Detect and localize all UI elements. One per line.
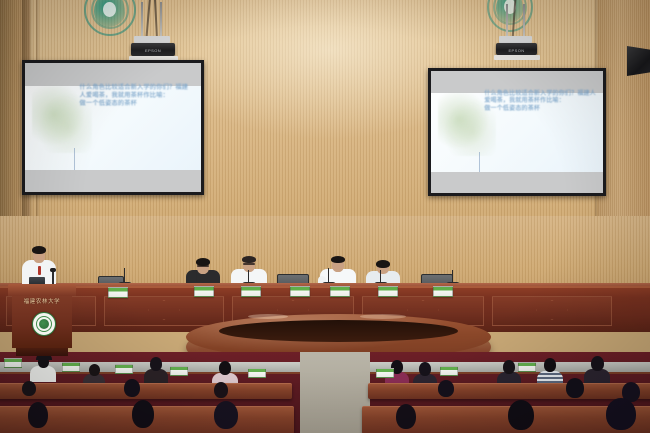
audience-member: [24, 402, 58, 433]
audience-head: [214, 401, 238, 429]
oval-table-highlight: [248, 314, 288, 319]
audience-member: [604, 398, 648, 433]
podium-front: 福建农林大学: [12, 296, 72, 348]
audience-member: [392, 404, 426, 433]
projector-mount: [134, 36, 170, 43]
seat-nameplate: [376, 368, 394, 378]
projector-rod: [141, 2, 143, 38]
audience-head: [419, 362, 431, 376]
seat-nameplate: [62, 362, 80, 372]
oval-table-center-opening: [219, 320, 458, 342]
projector-brand-label: EPSON: [131, 48, 175, 53]
audience-member: [128, 400, 164, 433]
mic-stem: [124, 268, 125, 282]
audience-torso: [30, 366, 56, 382]
crest-core: [39, 319, 49, 329]
projector-rod: [160, 2, 162, 38]
audience-head: [22, 381, 36, 396]
eyeglasses-icon: [197, 265, 209, 267]
audience-head: [606, 398, 636, 430]
seat-nameplate: [170, 366, 188, 376]
projection-screen-left: 什么角色比较适合新入学的你们？福建人爱喝茶，我就用茶杯作比喻： 做一个低姿态的茶…: [22, 60, 204, 195]
audience-member: [560, 378, 592, 408]
nameplate: [433, 286, 453, 297]
panelist-hair: [331, 256, 345, 263]
panelist-hair: [376, 260, 390, 268]
podium-mic-head: [50, 268, 56, 272]
podium-base: [16, 348, 68, 356]
mic-stem: [328, 268, 329, 282]
panelist-hair: [242, 256, 256, 263]
seat-nameplate: [248, 368, 266, 378]
projection-screen-right: 什么角色比较适合新入学的你们？福建人爱喝茶，我就用茶杯作比喻： 做一个低姿态的茶…: [428, 68, 606, 196]
audience-head: [396, 404, 416, 429]
audience-head: [544, 358, 556, 372]
audience-head: [150, 357, 162, 371]
audience-member: [432, 380, 462, 408]
seat-nameplate: [115, 364, 133, 374]
audience-head: [89, 364, 100, 376]
audience-head: [503, 360, 515, 374]
nameplate: [378, 286, 398, 297]
podium-crest-icon: [32, 312, 56, 336]
nameplate: [241, 286, 261, 297]
audience-member: [210, 401, 248, 433]
audience-bench-row-2-right: [368, 383, 650, 399]
podium-top: [8, 284, 76, 296]
projector-rod: [506, 4, 508, 36]
conference-hall-photo: EPSON EPSON 什么角色比较适合新入学的你们？福建人爱喝茶，我就用茶杯作…: [0, 0, 650, 433]
seat-nameplate: [440, 366, 458, 376]
projector-ceiling-plate: [494, 55, 540, 60]
audience-head: [124, 379, 140, 397]
seat-nameplate: [518, 362, 536, 372]
seat-nameplate: [4, 358, 22, 368]
audience-head: [566, 378, 584, 398]
wall-speaker-icon: [627, 46, 650, 76]
projector-mount: [499, 36, 532, 43]
eyeglasses-icon: [243, 263, 255, 265]
screen-bottom-band: [431, 172, 603, 193]
audience-head: [219, 361, 231, 375]
screen-surface: 什么角色比较适合新入学的你们？福建人爱喝茶，我就用茶杯作比喻： 做一个低姿态的茶…: [25, 63, 201, 192]
audience-head: [508, 400, 534, 430]
mic-stem: [452, 270, 453, 282]
projector-brand-label: EPSON: [496, 48, 537, 53]
projector-body: EPSON: [496, 43, 537, 55]
audience-head: [132, 400, 154, 428]
nameplate: [290, 286, 310, 297]
slide-text-right: 什么角色比较适合新入学的你们？福建人爱喝茶，我就用茶杯作比喻： 做一个低姿态的茶…: [484, 91, 596, 114]
audience-head: [214, 382, 228, 398]
projector-body: EPSON: [131, 43, 175, 56]
nameplate: [330, 286, 350, 297]
slide-text-left: 什么角色比较适合新入学的你们？福建人爱喝茶，我就用茶杯作比喻： 做一个低姿态的茶…: [80, 84, 194, 108]
screen-bottom-band: [25, 170, 201, 192]
speaker-hair: [32, 246, 46, 254]
projector-rod: [523, 4, 525, 36]
nameplate: [194, 286, 214, 297]
audience-member: [30, 356, 56, 382]
oval-table-highlight: [360, 314, 406, 319]
mic-stem: [380, 270, 381, 282]
mic-stem: [196, 270, 197, 282]
nameplate: [108, 287, 128, 298]
speaker-badge: [38, 266, 41, 275]
mic-stem: [248, 270, 249, 282]
podium-sign-text: 福建农林大学: [16, 298, 68, 307]
audience-head: [591, 356, 604, 371]
audience-member: [504, 400, 544, 433]
audience-head: [28, 402, 48, 428]
audience-head: [438, 380, 454, 397]
screen-surface: 什么角色比较适合新入学的你们？福建人爱喝茶，我就用茶杯作比喻： 做一个低姿态的茶…: [431, 71, 603, 193]
center-aisle: [300, 352, 370, 433]
